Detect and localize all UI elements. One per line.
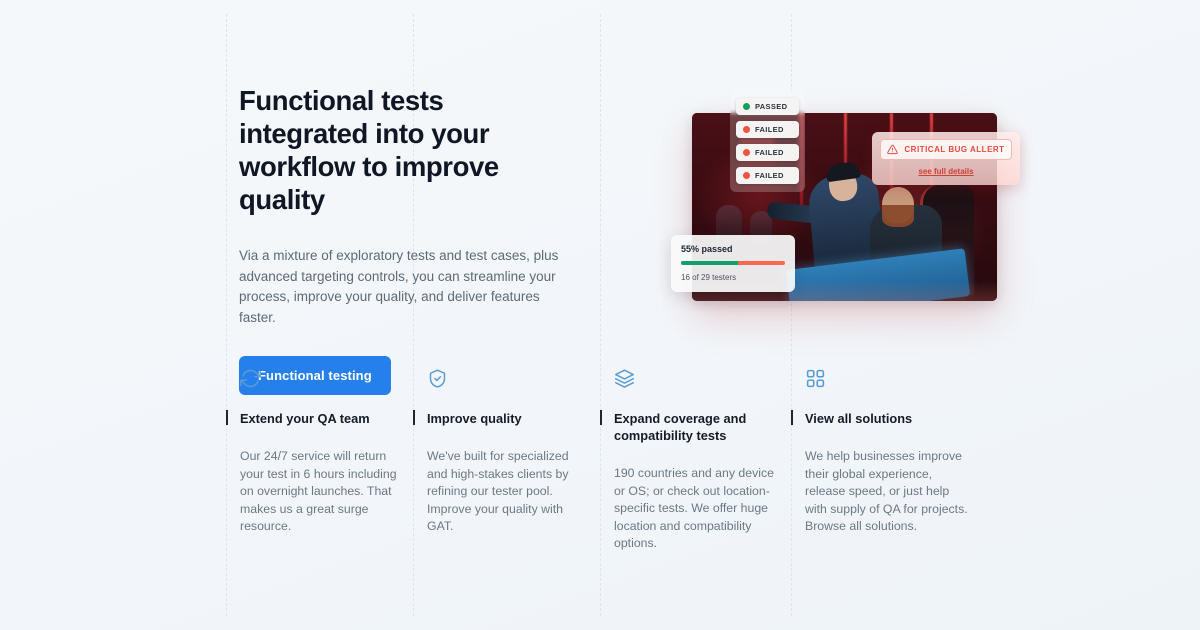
tester-count: 16 of 29 testers: [681, 273, 785, 282]
feature-body: We help businesses improve their global …: [805, 448, 973, 536]
page-title: Functional tests integrated into your wo…: [239, 84, 579, 216]
column-accent-bar: [226, 410, 228, 425]
hero-description: Via a mixture of exploratory tests and t…: [239, 246, 569, 328]
status-dot-failed: [743, 149, 750, 156]
status-badge: PASSED: [736, 98, 799, 115]
status-badge: FAILED: [736, 167, 799, 184]
progress-fill-passed: [681, 261, 738, 265]
progress-fill-failed: [738, 261, 785, 265]
see-full-details-link[interactable]: see full details: [880, 167, 1012, 176]
status-label: FAILED: [755, 171, 784, 180]
feature-improve-quality[interactable]: Improve quality We've built for speciali…: [413, 368, 600, 553]
critical-bug-alert-card: CRITICAL BUG ALLERT see full details: [872, 132, 1020, 185]
progress-bar: [681, 261, 785, 265]
alert-bar: CRITICAL BUG ALLERT: [880, 139, 1012, 160]
column-accent-bar: [413, 410, 415, 425]
column-accent-bar: [600, 410, 602, 425]
feature-title: Extend your QA team: [240, 410, 400, 427]
feature-body: Our 24/7 service will return your test i…: [240, 448, 400, 536]
feature-title: Expand coverage and compatibility tests: [614, 410, 774, 444]
feature-body: 190 countries and any device or OS; or c…: [614, 465, 774, 553]
hero-copy: Functional tests integrated into your wo…: [239, 84, 579, 395]
marketing-hero-section: Functional tests integrated into your wo…: [0, 0, 1200, 630]
alert-text: CRITICAL BUG ALLERT: [904, 145, 1004, 154]
feature-body: We've built for specialized and high-sta…: [427, 448, 587, 536]
status-badge: FAILED: [736, 121, 799, 138]
pass-rate-card: 55% passed 16 of 29 testers: [671, 235, 795, 292]
status-badge: FAILED: [736, 144, 799, 161]
status-label: FAILED: [755, 125, 784, 134]
status-dot-passed: [743, 103, 750, 110]
layers-icon: [614, 368, 791, 390]
warning-triangle-icon: [887, 144, 898, 155]
person-beard: [882, 205, 914, 227]
feature-title: Improve quality: [427, 410, 587, 427]
feature-title: View all solutions: [805, 410, 973, 427]
feature-view-all-solutions[interactable]: View all solutions We help businesses im…: [791, 368, 991, 553]
feature-expand-coverage[interactable]: Expand coverage and compatibility tests …: [600, 368, 791, 553]
feature-extend-qa-team[interactable]: Extend your QA team Our 24/7 service wil…: [226, 368, 413, 553]
column-accent-bar: [791, 410, 793, 425]
status-label: FAILED: [755, 148, 784, 157]
test-status-list: PASSED FAILED FAILED FAILED: [730, 90, 805, 192]
feature-columns: Extend your QA team Our 24/7 service wil…: [226, 368, 1186, 553]
pass-rate-title: 55% passed: [681, 244, 785, 254]
status-dot-failed: [743, 126, 750, 133]
status-dot-failed: [743, 172, 750, 179]
status-label: PASSED: [755, 102, 787, 111]
hero-media: PASSED FAILED FAILED FAILED: [668, 80, 1028, 320]
shield-check-icon: [427, 368, 600, 390]
refresh-sync-icon: [240, 368, 413, 390]
grid-squares-icon: [805, 368, 991, 390]
